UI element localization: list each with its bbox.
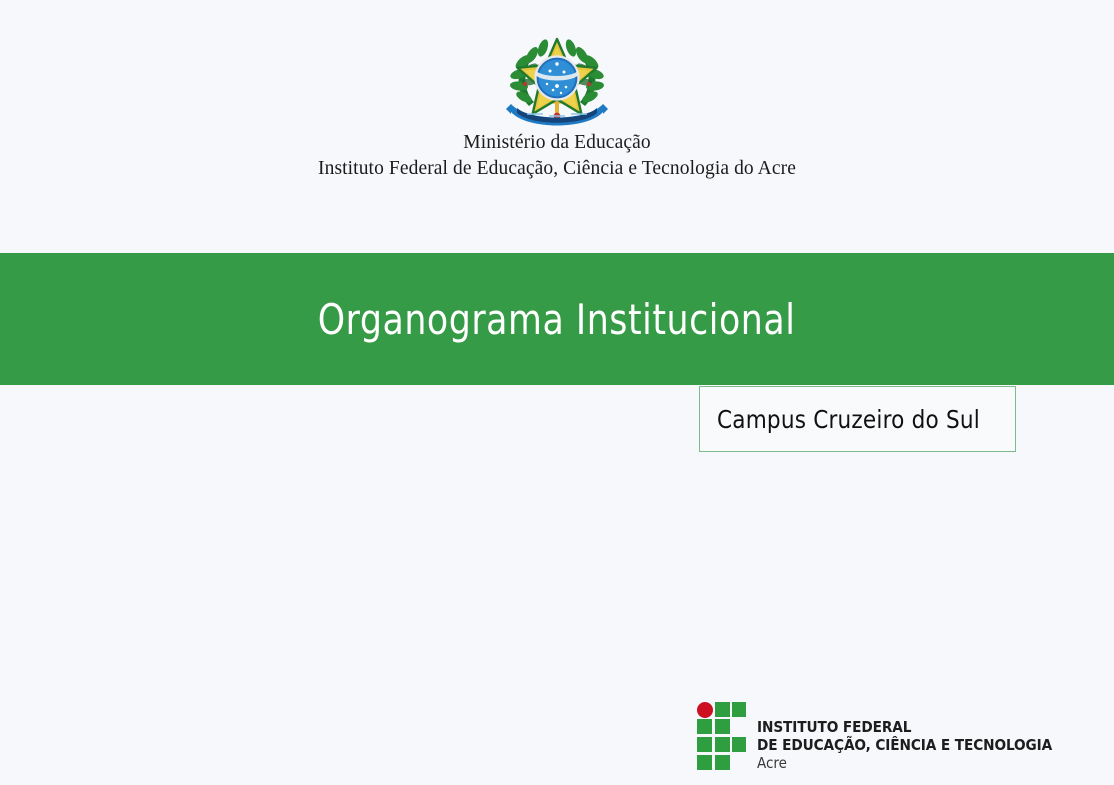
document-header: Ministério da Educação Instituto Federal… [0, 0, 1114, 253]
organograma-cover-page: { "page": { "background_color": "#f7f8fb… [0, 0, 1114, 785]
brazil-coat-of-arms-icon [505, 26, 609, 130]
if-logo-line-3: Acre [757, 754, 1052, 772]
if-logo-line-1: INSTITUTO FEDERAL [757, 719, 1052, 737]
institute-line: Instituto Federal de Educação, Ciência e… [0, 156, 1114, 182]
if-logo-wordmark: INSTITUTO FEDERAL DE EDUCAÇÃO, CIÊNCIA E… [757, 719, 1052, 772]
if-logo-grid-icon [697, 702, 746, 770]
if-footer-logo: INSTITUTO FEDERAL DE EDUCAÇÃO, CIÊNCIA E… [697, 702, 1052, 772]
if-logo-line-2: DE EDUCAÇÃO, CIÊNCIA E TECNOLOGIA [757, 737, 1052, 755]
campus-label: Campus Cruzeiro do Sul [717, 405, 980, 434]
ministry-line: Ministério da Educação [0, 130, 1114, 156]
title-banner: Organograma Institucional [0, 253, 1114, 385]
page-title: Organograma Institucional [318, 295, 796, 344]
crest-container [0, 26, 1114, 130]
campus-box: Campus Cruzeiro do Sul [699, 386, 1016, 452]
ministry-heading: Ministério da Educação Instituto Federal… [0, 130, 1114, 182]
